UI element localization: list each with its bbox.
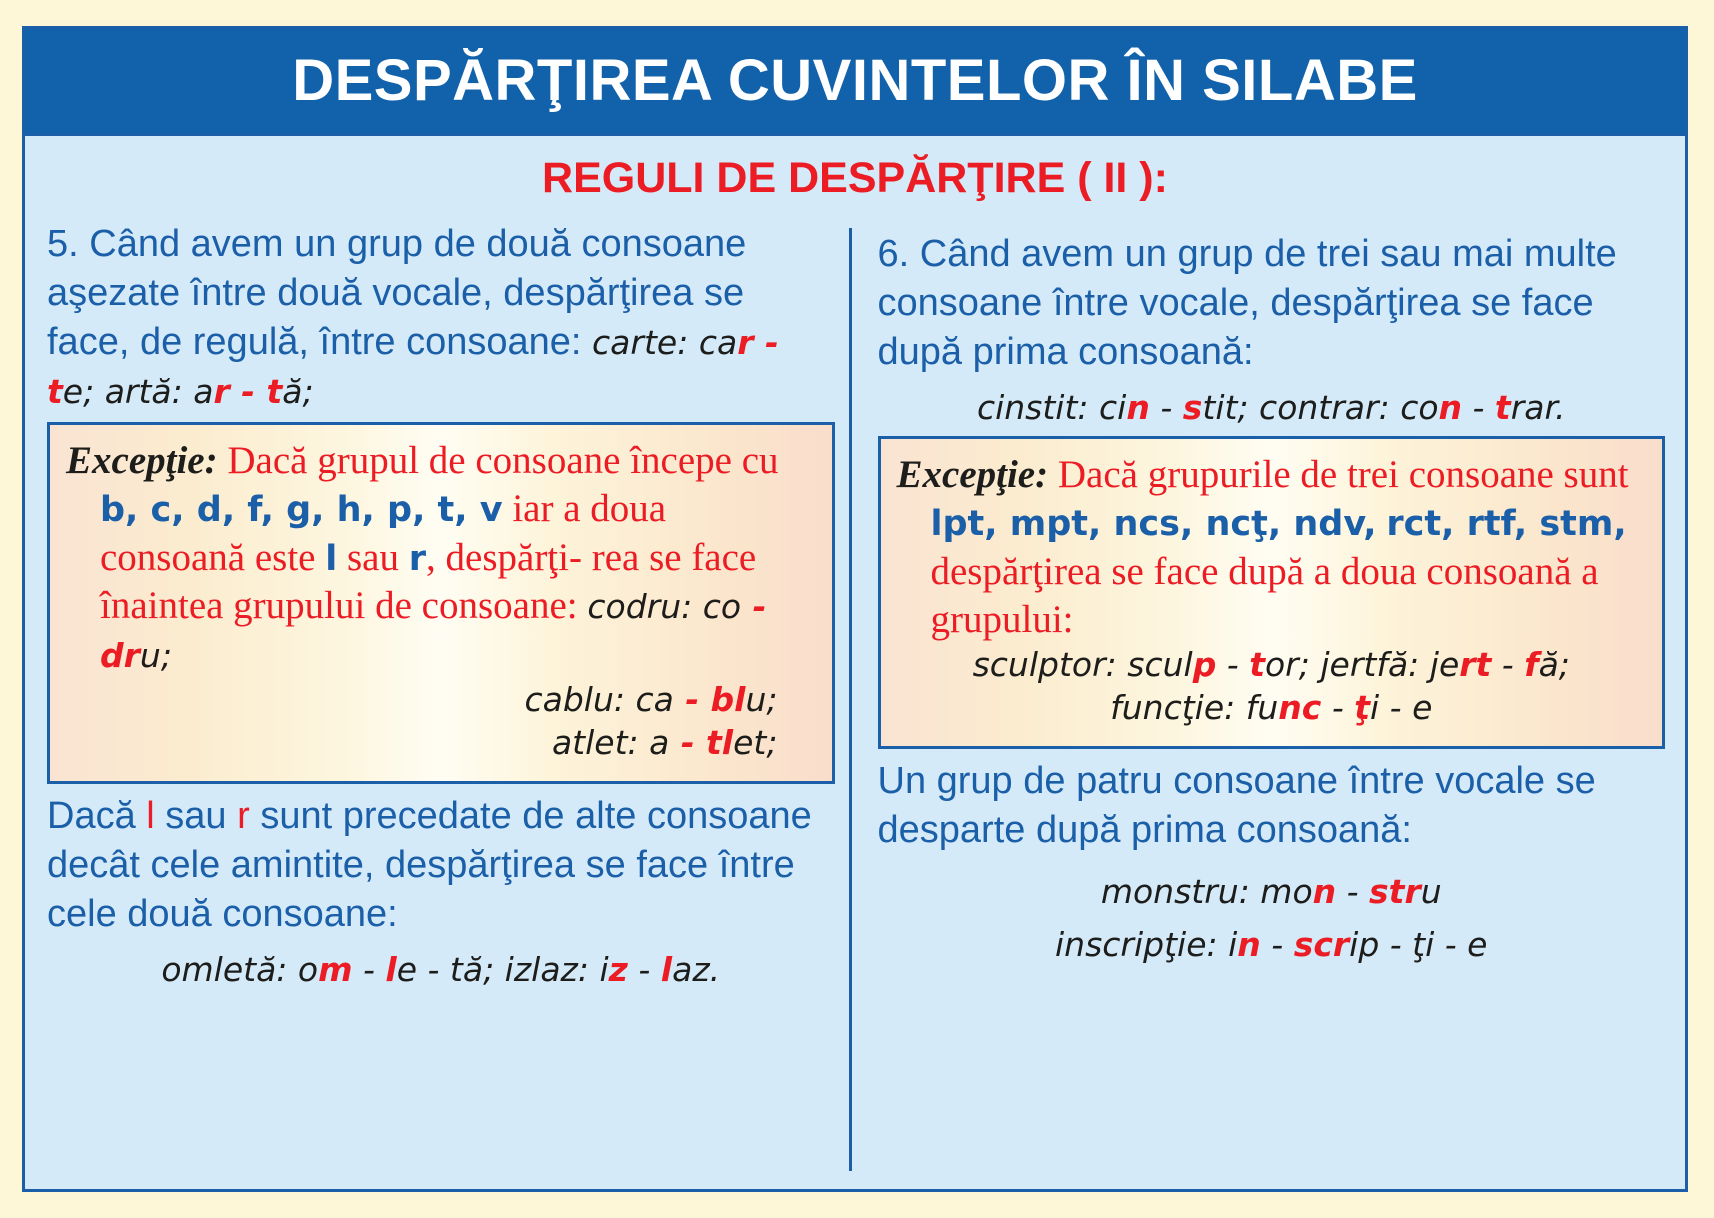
right-exception-line2-a: consoane sunt	[1409, 453, 1629, 496]
left-extra-a: Dacă	[47, 795, 146, 837]
left-exception-line3-c: , despărţi-	[426, 536, 582, 579]
right-column: 6. Când avem un grup de trei sau mai mul…	[852, 220, 1686, 1181]
left-extra-b: sau	[155, 795, 237, 837]
left-exception-box: Excepţie: Dacă grupul de consoane începe…	[47, 422, 835, 784]
left-exception-line3-b: sau	[337, 536, 409, 579]
subtitle: REGULI DE DESPĂRŢIRE ( II ):	[542, 157, 1168, 200]
title-bar: DESPĂRŢIREA CUVINTELOR ÎN SILABE	[25, 29, 1685, 136]
left-exception-letter-l: l	[325, 539, 337, 579]
rule-5-text: 5. Când avem un grup de două consoane aş…	[47, 220, 835, 416]
right-spacer-a	[878, 377, 1666, 387]
left-exception-example-1: cablu: ca - blu;	[66, 679, 816, 722]
left-exception-line2-a: începe cu	[630, 439, 778, 482]
right-exception-example-0: sculptor: sculp - tor; jertfă: jert - fă…	[897, 644, 1647, 687]
right-exception-line1: Dacă grupurile de trei	[1058, 453, 1399, 496]
subtitle-row: REGULI DE DESPĂRŢIRE ( II ):	[25, 136, 1685, 220]
rule-6-example: cinstit: cin - stit; contrar: con - trar…	[878, 387, 1666, 430]
left-extra-letter-l: l	[146, 795, 154, 837]
left-column: 5. Când avem un grup de două consoane aş…	[25, 220, 849, 1181]
right-top-spacer	[878, 220, 1666, 230]
left-extra-rule-text: Dacă l sau r sunt precedate de alte cons…	[47, 792, 835, 939]
poster: DESPĂRŢIREA CUVINTELOR ÎN SILABE REGULI …	[22, 26, 1688, 1192]
left-exception-example-2: atlet: a - tlet;	[66, 722, 816, 765]
left-exception-letter-r: r	[409, 539, 426, 579]
left-extra-letter-r: r	[237, 795, 250, 837]
left-exception-letters: b, c, d, f, g, h, p, t, v	[100, 490, 503, 530]
right-extra-rule-text: Un grup de patru consoane între vocale s…	[878, 757, 1666, 855]
left-exception-line5-a: consoane:	[422, 584, 588, 627]
left-exception-line2-b: iar a	[503, 487, 581, 530]
right-extra-example-1: inscripţie: in - scrip - ţi - e	[878, 924, 1666, 967]
left-spacer	[47, 939, 835, 949]
right-exception-line3-b: despărţirea se face după	[931, 550, 1305, 593]
right-exception-label: Excepţie:	[897, 453, 1049, 496]
right-extra-example-0: monstru: mon - stru	[878, 871, 1666, 914]
right-exception-groups-1: lpt, mpt, ncs, ncţ, ndv,	[931, 504, 1377, 544]
right-spacer-b	[878, 855, 1666, 871]
left-exception-line1: Dacă grupul de consoane	[227, 439, 620, 482]
rule-6-text: 6. Când avem un grup de trei sau mai mul…	[878, 230, 1666, 377]
right-spacer-c	[878, 914, 1666, 924]
left-exception-label: Excepţie:	[66, 439, 218, 482]
page-title: DESPĂRŢIREA CUVINTELOR ÎN SILABE	[292, 52, 1418, 110]
left-extra-example: omletă: om - le - tă; izlaz: iz - laz.	[47, 949, 835, 992]
right-exception-text: Excepţie: Dacă grupurile de trei consoan…	[897, 451, 1647, 644]
right-exception-example-1: funcţie: func - ţi - e	[897, 687, 1647, 730]
right-exception-groups-2: rct, rtf, stm,	[1386, 504, 1626, 544]
columns-container: 5. Când avem un grup de două consoane aş…	[25, 220, 1685, 1189]
right-exception-box: Excepţie: Dacă grupurile de trei consoan…	[878, 436, 1666, 749]
left-exception-text: Excepţie: Dacă grupul de consoane începe…	[66, 437, 816, 679]
